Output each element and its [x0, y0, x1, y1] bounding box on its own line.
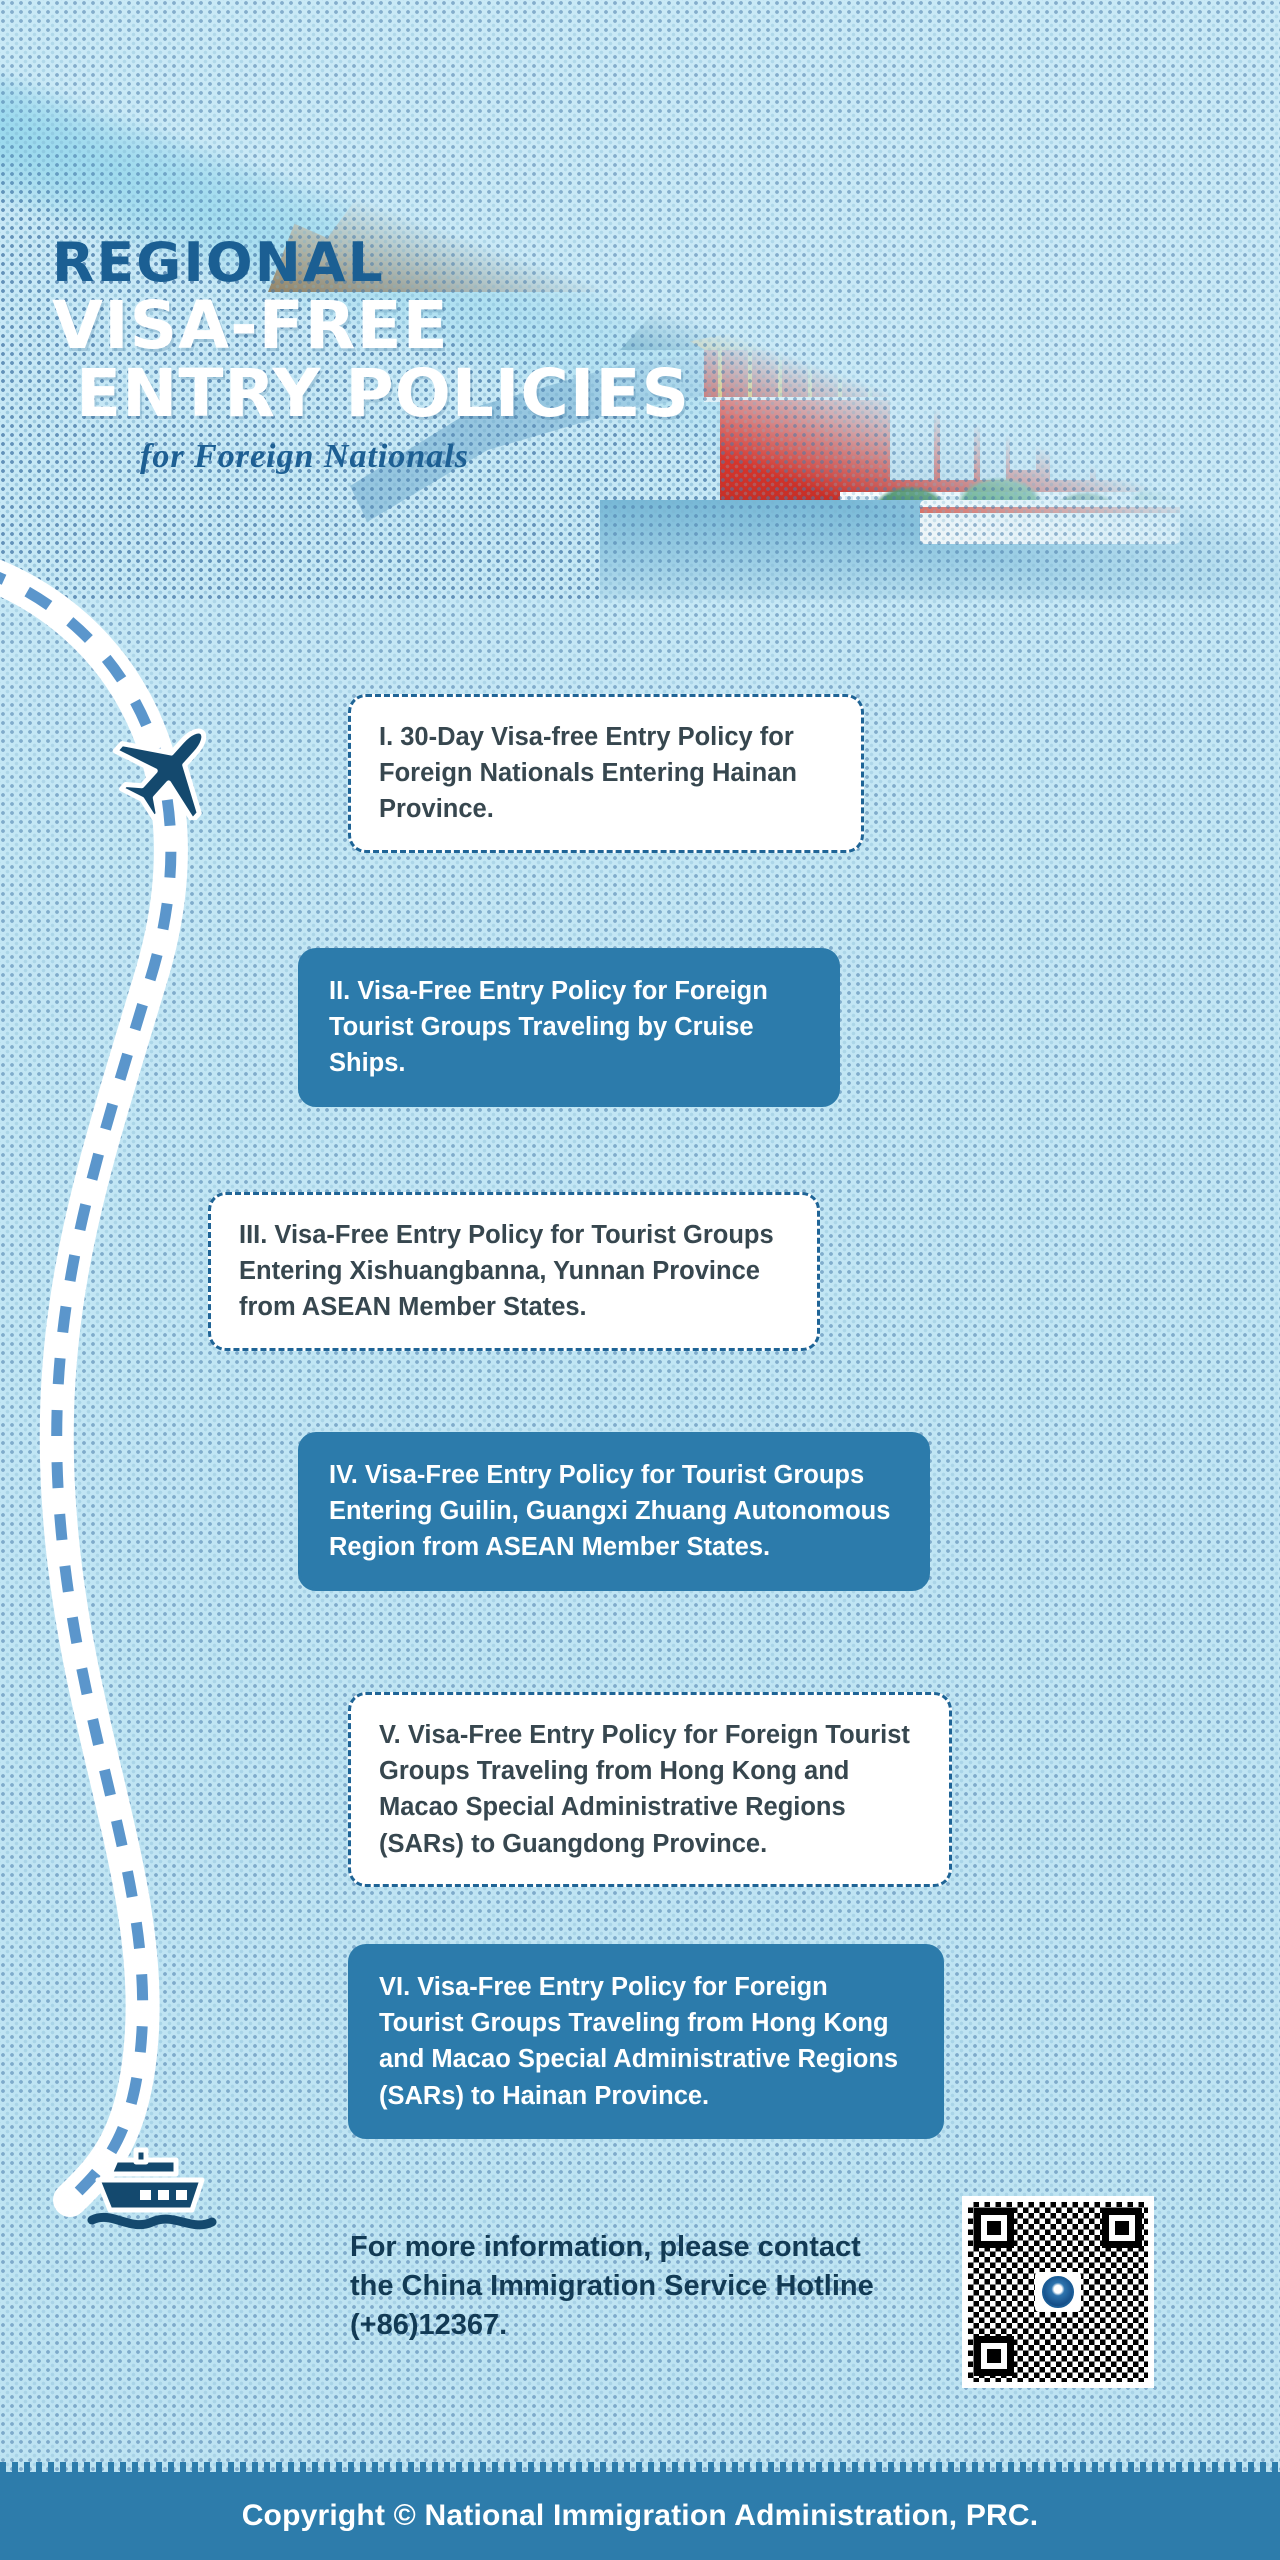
- title-subtitle: for Foreign Nationals: [140, 438, 852, 476]
- policy-card-1[interactable]: I. 30-Day Visa-free Entry Policy for For…: [348, 694, 864, 853]
- policy-card-6[interactable]: VI. Visa-Free Entry Policy for Foreign T…: [348, 1944, 944, 2139]
- contact-info-text: For more information, please contact the…: [350, 2228, 910, 2345]
- policy-card-4[interactable]: IV. Visa-Free Entry Policy for Tourist G…: [298, 1432, 930, 1591]
- cruise-ship-icon: [80, 2140, 230, 2250]
- qr-code[interactable]: [962, 2196, 1154, 2388]
- title-line-visa-free: VISA-FREE: [52, 292, 852, 360]
- qr-finder-top-right: [1102, 2208, 1142, 2248]
- footer-bar: Copyright © National Immigration Adminis…: [0, 2472, 1280, 2560]
- title-line-entry-policies: ENTRY POLICIES: [76, 360, 852, 428]
- qr-finder-top-left: [974, 2208, 1014, 2248]
- qr-finder-bottom-left: [974, 2336, 1014, 2376]
- airplane-icon: [112, 716, 228, 820]
- immigration-emblem-icon: [1042, 2276, 1074, 2308]
- policy-card-2[interactable]: II. Visa-Free Entry Policy for Foreign T…: [298, 948, 840, 1107]
- qr-center-logo: [1035, 2272, 1081, 2312]
- qr-code-matrix: [968, 2202, 1148, 2382]
- policy-card-3[interactable]: III. Visa-Free Entry Policy for Tourist …: [208, 1192, 820, 1351]
- footer-edge-decoration: [0, 2462, 1280, 2472]
- infographic-poster: REGIONAL VISA-FREE ENTRY POLICIES for Fo…: [0, 0, 1280, 2560]
- policy-card-5[interactable]: V. Visa-Free Entry Policy for Foreign To…: [348, 1692, 952, 1887]
- copyright-text: Copyright © National Immigration Adminis…: [242, 2499, 1039, 2533]
- page-title: REGIONAL VISA-FREE ENTRY POLICIES for Fo…: [52, 236, 852, 476]
- title-line-regional: REGIONAL: [52, 236, 868, 290]
